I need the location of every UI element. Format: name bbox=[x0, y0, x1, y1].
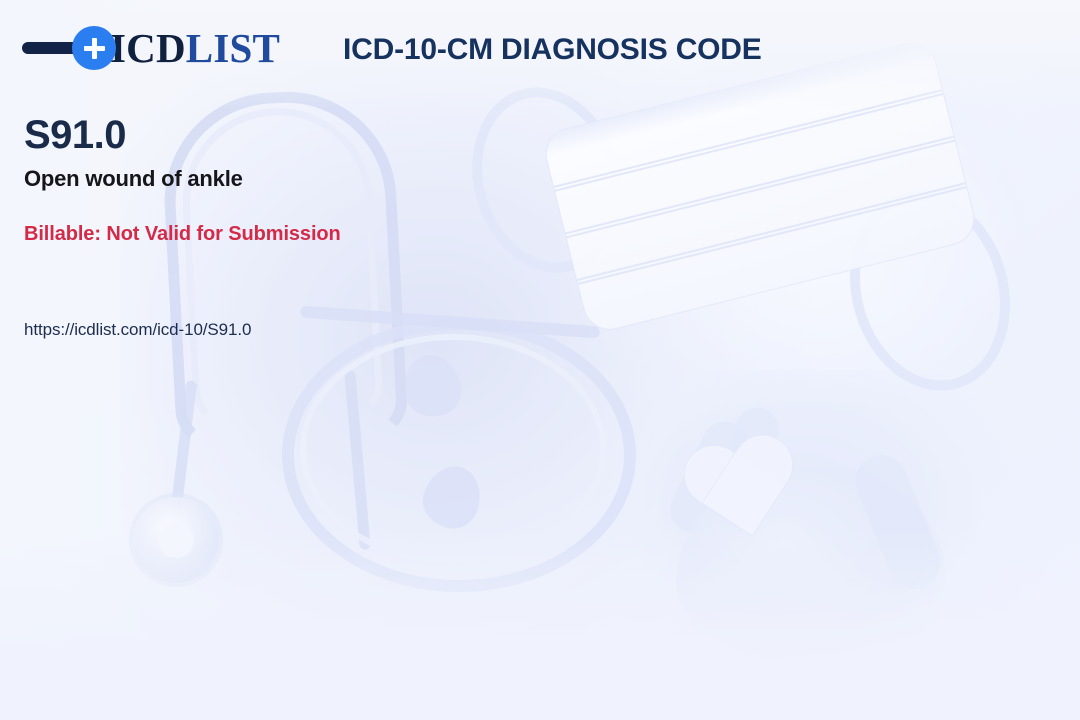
stethoscope-tube-right-icon bbox=[344, 370, 371, 550]
surgical-mask-icon bbox=[541, 39, 979, 335]
mask-ear-loop-left-icon bbox=[451, 70, 643, 291]
stethoscope-cross-tube-icon bbox=[300, 306, 600, 339]
diagnosis-code: S91.0 bbox=[24, 113, 126, 158]
stethoscope-eartip-icon bbox=[417, 460, 486, 534]
hand-finger-icon bbox=[707, 402, 784, 535]
photo-fade-bottom bbox=[0, 530, 1080, 720]
hand-finger-icon bbox=[662, 414, 755, 540]
logo-text-icd: ICD bbox=[110, 25, 186, 71]
heart-icon bbox=[675, 431, 815, 571]
stethoscope-tube-inner-icon bbox=[178, 103, 384, 427]
stethoscope-eartip-icon bbox=[396, 348, 468, 424]
page-title: ICD-10-CM DIAGNOSIS CODE bbox=[343, 33, 762, 67]
mask-ear-loop-right-icon bbox=[827, 172, 1033, 409]
icdlist-logo[interactable]: ICDLIST bbox=[22, 26, 280, 70]
source-url[interactable]: https://icdlist.com/icd-10/S91.0 bbox=[24, 320, 251, 340]
photo-wash-left bbox=[120, 60, 820, 680]
hand-palm-icon bbox=[676, 466, 946, 666]
stethoscope-chestpiece-icon bbox=[133, 497, 219, 583]
photo-wash-bottom-right bbox=[600, 370, 1060, 700]
plus-icon bbox=[72, 26, 116, 70]
stethoscope-tube-outer-icon bbox=[159, 86, 409, 450]
stethoscope-ring-outer-icon bbox=[282, 318, 636, 592]
slide-canvas: ICDLIST ICD-10-CM DIAGNOSIS CODE S91.0 O… bbox=[0, 0, 1080, 720]
stethoscope-chestpiece-hub-icon bbox=[158, 522, 194, 558]
photo-wash-right bbox=[560, 40, 1080, 460]
diagnosis-description: Open wound of ankle bbox=[24, 166, 243, 192]
logo-text-list: LIST bbox=[186, 25, 280, 71]
stethoscope-ring-inner-icon bbox=[300, 334, 606, 564]
background-medical-photo bbox=[0, 0, 1080, 720]
stethoscope-tube-left-icon bbox=[166, 380, 198, 550]
billable-status-badge: Billable: Not Valid for Submission bbox=[24, 223, 341, 246]
photo-fade-left bbox=[0, 0, 170, 720]
hand-thumb-icon bbox=[848, 447, 949, 596]
